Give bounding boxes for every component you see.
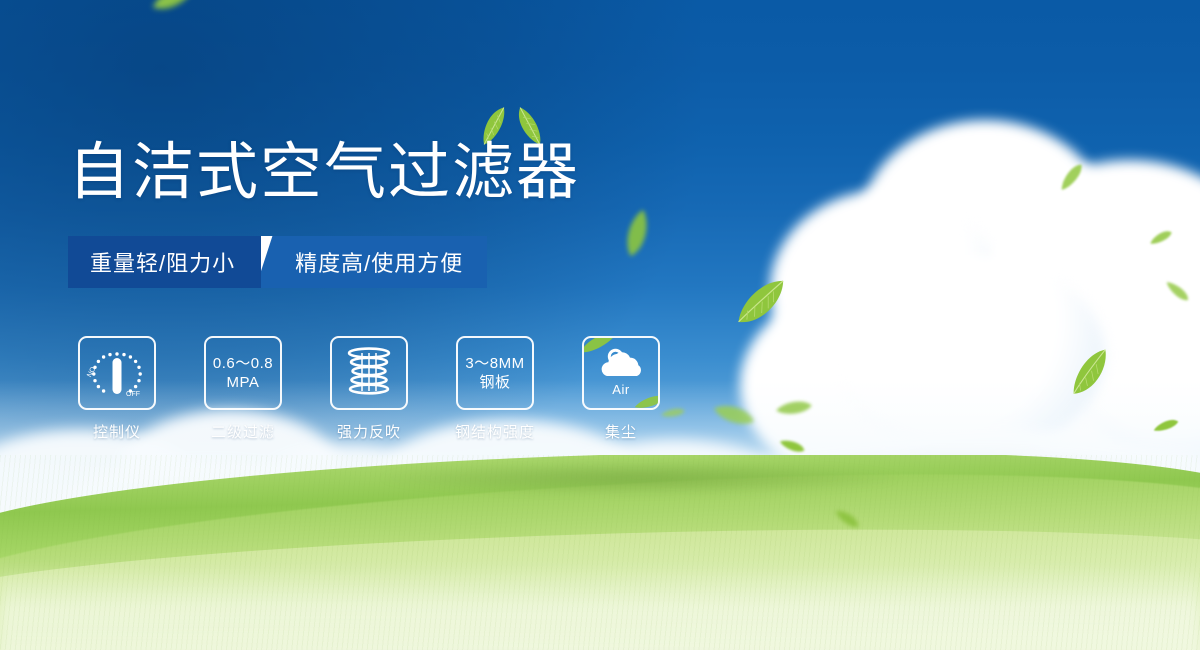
feature-list: NO OFF 控制仪 0.6～0.8 MPA 二级过滤	[72, 336, 666, 442]
feature-label: 钢结构强度	[455, 421, 535, 442]
feature-item-pressure[interactable]: 0.6～0.8 MPA 二级过滤	[198, 336, 288, 442]
pressure-range-text: 0.6～0.8	[213, 354, 273, 373]
feature-item-control-gauge[interactable]: NO OFF 控制仪	[72, 336, 162, 442]
grass-field	[0, 455, 1200, 650]
badge-left-text: 重量轻/阻力小	[68, 236, 261, 288]
air-cloud-icon: Air	[582, 336, 660, 410]
subtitle-badge: 重量轻/阻力小 精度高/使用方便	[68, 236, 487, 288]
steel-plate-text: 钢板	[479, 373, 510, 392]
badge-right-text: 精度高/使用方便	[287, 236, 487, 288]
feature-item-backblow[interactable]: 强力反吹	[324, 336, 414, 442]
promo-banner: 自洁式空气过滤器 重量轻/阻力小 精度高/使用方便	[0, 0, 1200, 650]
gauge-off-label: OFF	[126, 391, 140, 398]
feature-item-dust-collection[interactable]: Air 集尘	[576, 336, 666, 442]
feature-label: 集尘	[605, 421, 637, 442]
feature-label: 强力反吹	[337, 421, 401, 442]
pressure-value-icon: 0.6～0.8 MPA	[204, 336, 282, 410]
feature-label: 控制仪	[93, 421, 141, 442]
gauge-dial-icon: NO OFF	[78, 336, 156, 410]
steel-thickness-text: 3～8MM	[465, 354, 524, 373]
coil-spring-icon	[330, 336, 408, 410]
pressure-unit-text: MPA	[227, 373, 260, 392]
steel-plate-icon: 3～8MM 钢板	[456, 336, 534, 410]
feature-item-steel[interactable]: 3～8MM 钢板 钢结构强度	[450, 336, 540, 442]
cloud-leaf-accent-icon	[632, 391, 660, 410]
badge-separator	[261, 236, 287, 288]
page-title: 自洁式空气过滤器	[68, 142, 580, 204]
feature-label: 二级过滤	[211, 421, 275, 442]
